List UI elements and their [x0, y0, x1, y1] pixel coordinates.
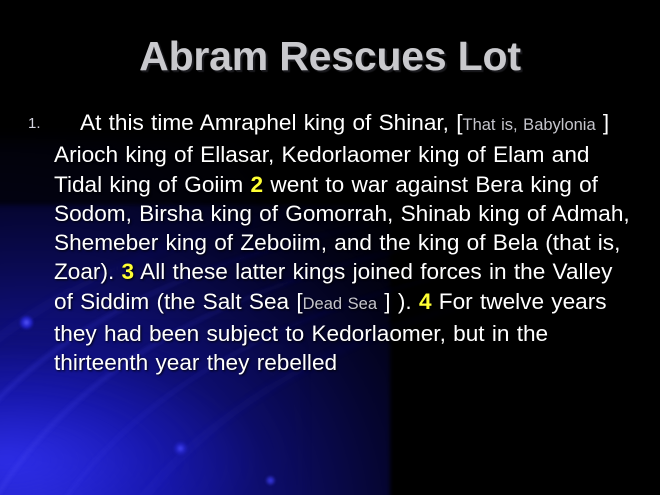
- slide-body: 1. At this time Amraphel king of Shinar,…: [28, 108, 636, 378]
- background-light-dot: [266, 476, 275, 485]
- editorial-note: Dead Sea: [303, 295, 377, 313]
- background-light-dot: [174, 442, 187, 455]
- verse-number: 4: [419, 289, 432, 314]
- verse-number: 2: [251, 172, 264, 197]
- verse-number: 3: [122, 259, 135, 284]
- list-item-marker: 1.: [28, 108, 54, 132]
- editorial-note: That is, Babylonia: [463, 116, 596, 134]
- scripture-text: ] ).: [377, 289, 419, 314]
- list-item-text: At this time Amraphel king of Shinar, [T…: [54, 108, 636, 378]
- presentation-slide: Abram Rescues Lot 1. At this time Amraph…: [0, 0, 660, 495]
- scripture-text: At this time Amraphel king of Shinar, [: [80, 110, 463, 135]
- slide-title: Abram Rescues Lot: [0, 36, 660, 77]
- list-item: 1. At this time Amraphel king of Shinar,…: [28, 108, 636, 378]
